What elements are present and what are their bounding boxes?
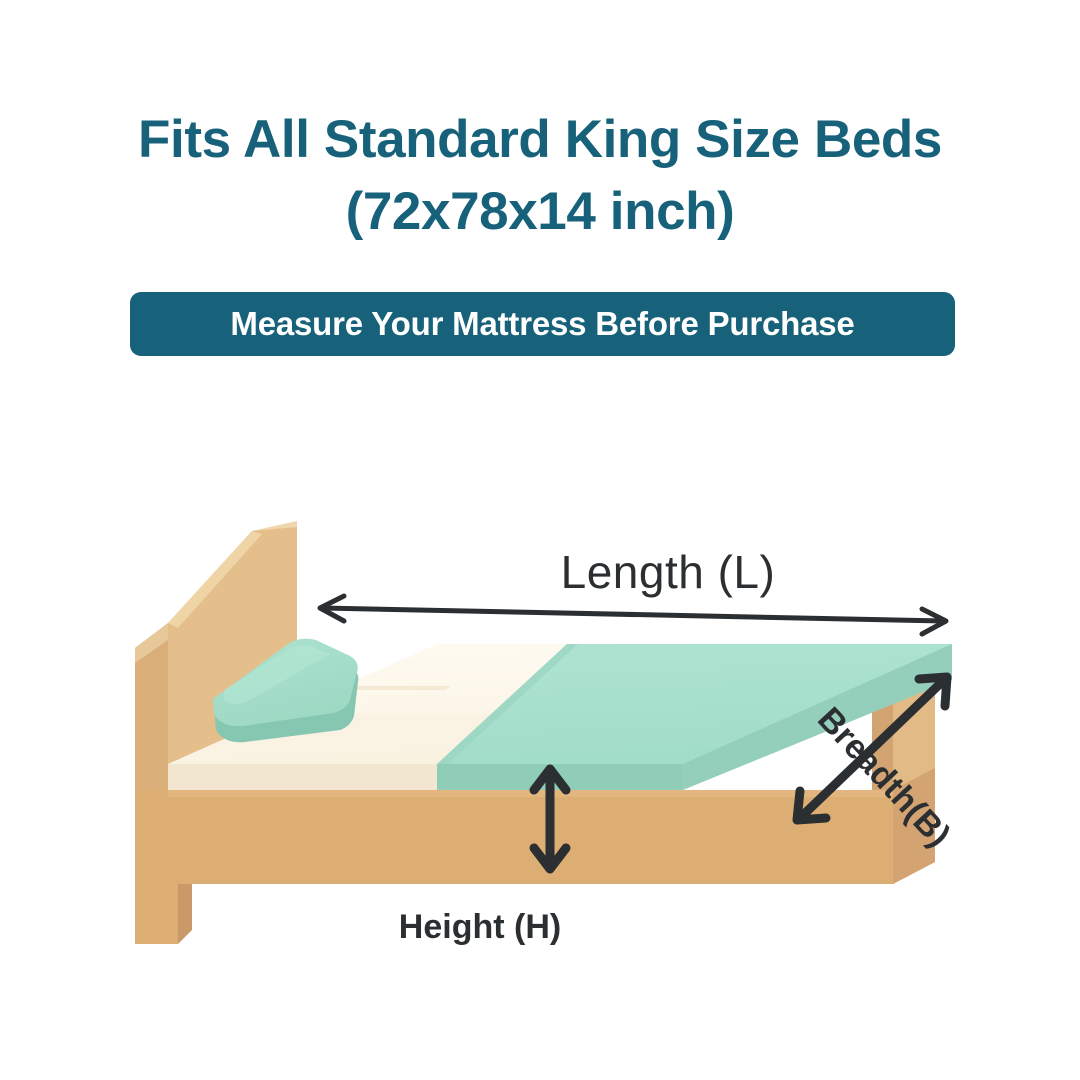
length-dimension-label: Length (L) [128, 545, 1080, 599]
height-dimension-label: Height (H) [0, 908, 1020, 947]
infographic-canvas: Fits All Standard King Size Beds (72x78x… [0, 0, 1080, 1080]
length-arrow [320, 596, 946, 634]
